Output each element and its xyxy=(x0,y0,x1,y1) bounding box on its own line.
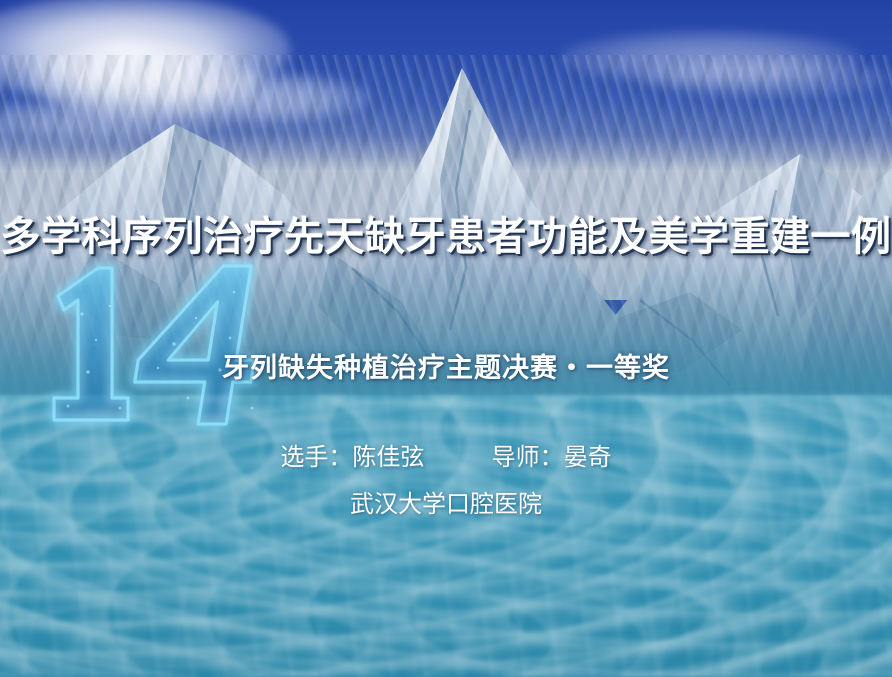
byline: 选手：陈佳弦 导师：晏奇 xyxy=(0,437,892,472)
mentor-label: 导师：晏奇 xyxy=(492,444,612,471)
slide-subtitle: 牙列缺失种植治疗主题决赛・一等奖 xyxy=(0,346,892,385)
presenter-label: 选手：陈佳弦 xyxy=(280,444,424,471)
page-title: 多学科序列治疗先天缺牙患者功能及美学重建一例 xyxy=(0,204,892,262)
affiliation-label: 武汉大学口腔医院 xyxy=(0,484,892,519)
slide-text-content: 多学科序列治疗先天缺牙患者功能及美学重建一例 牙列缺失种植治疗主题决赛・一等奖 … xyxy=(0,0,892,677)
title-slide: 多学科序列治疗先天缺牙患者功能及美学重建一例 牙列缺失种植治疗主题决赛・一等奖 … xyxy=(0,0,892,677)
